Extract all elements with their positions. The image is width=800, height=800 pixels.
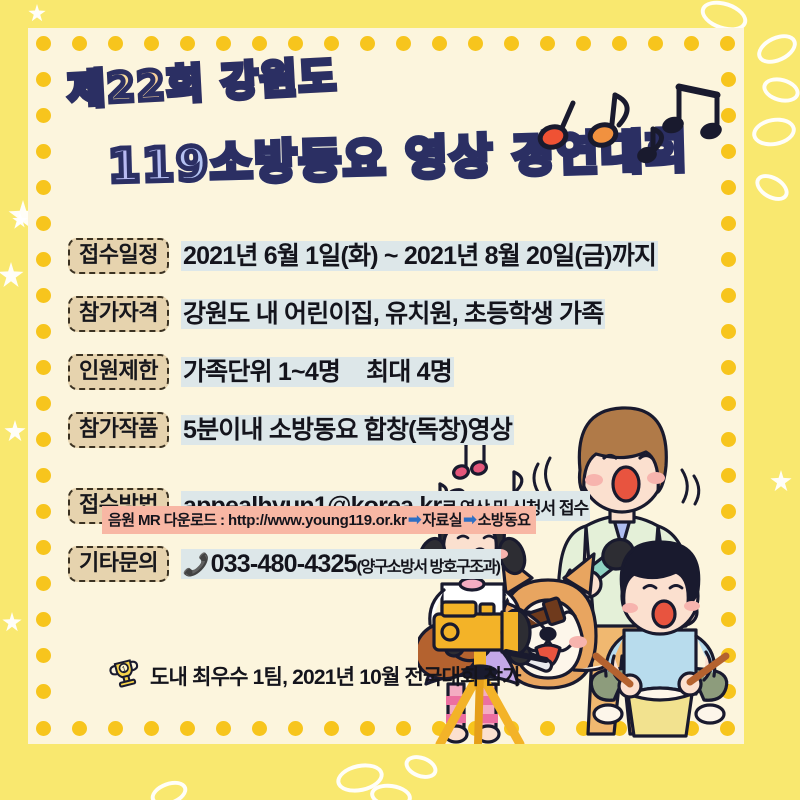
border-dot — [36, 684, 51, 699]
border-dot — [108, 36, 123, 51]
border-dot — [108, 721, 123, 736]
border-dot — [36, 432, 51, 447]
swirl-doodle — [334, 759, 387, 796]
info-row-schedule: 접수일정 2021년 6월 1일(화) ~ 2021년 8월 20일(금)까지 — [68, 238, 708, 274]
border-dot — [36, 252, 51, 267]
info-value-contact: 📞033-480-4325(양구소방서 방호구조과) — [181, 549, 502, 580]
border-dot — [36, 216, 51, 231]
border-dot — [36, 396, 51, 411]
title-line-1: 제22회 강원도 — [66, 44, 338, 116]
footer-text: 도내 최우수 1팀, 2021년 10월 전국대회 참가 — [150, 661, 521, 691]
border-dot — [324, 721, 339, 736]
border-dot — [576, 36, 591, 51]
mr-download-line: 음원 MR 다운로드 : http://www.young119.or.kr➡자… — [102, 506, 536, 534]
border-dot — [36, 288, 51, 303]
info-tag-schedule: 접수일정 — [68, 238, 169, 274]
poster-inner-panel: 제22회 강원도 119소방동요 영상 경연대회 — [28, 28, 744, 744]
border-dot — [720, 36, 735, 51]
contact-office: (양구소방서 방호구조과) — [357, 559, 500, 576]
swirl-doodle — [369, 781, 414, 800]
swirl-doodle — [147, 776, 191, 800]
border-dot — [721, 360, 736, 375]
sparkle-doodle — [12, 212, 28, 228]
border-dot — [721, 288, 736, 303]
border-dot — [252, 721, 267, 736]
info-value-participant-limit: 가족단위 1~4명최대 4명 — [181, 357, 454, 388]
border-dot — [36, 576, 51, 591]
mr-prefix: 음원 MR 다운로드 : — [108, 512, 228, 529]
info-row-contact: 기타문의 📞033-480-4325(양구소방서 방호구조과) — [68, 546, 708, 582]
border-dot — [36, 540, 51, 555]
border-dot — [144, 721, 159, 736]
border-dot — [721, 252, 736, 267]
footer-note: 1 도내 최우수 1팀, 2021년 10월 전국대회 참가 — [108, 656, 521, 695]
swirl-doodle — [760, 73, 800, 106]
phone-icon: 📞 — [183, 552, 210, 577]
border-dot — [468, 36, 483, 51]
mr-url[interactable]: http://www.young119.or.kr — [228, 512, 407, 529]
border-dot — [180, 721, 195, 736]
border-dot — [540, 36, 555, 51]
border-dot — [180, 36, 195, 51]
border-dot — [36, 612, 51, 627]
mr-step-2: 소방동요 — [478, 512, 531, 529]
info-row-participant-limit: 인원제한 가족단위 1~4명최대 4명 — [68, 354, 708, 390]
arrow-icon: ➡ — [408, 510, 422, 529]
border-dot — [72, 36, 87, 51]
border-dot — [721, 216, 736, 231]
info-tag-participant-limit: 인원제한 — [68, 354, 169, 390]
border-dot — [36, 324, 51, 339]
info-tag-entry-work: 참가작품 — [68, 412, 169, 448]
info-tag-contact: 기타문의 — [68, 546, 169, 582]
sparkle-doodle — [2, 612, 22, 632]
poster-canvas: 제22회 강원도 119소방동요 영상 경연대회 — [0, 0, 800, 800]
border-dot — [721, 324, 736, 339]
swirl-doodle — [752, 28, 800, 69]
border-dot — [396, 721, 411, 736]
info-row-entry-work: 참가작품 5분이내 소방동요 합창(독창)영상 — [68, 412, 708, 448]
border-dot — [360, 721, 375, 736]
border-dot — [612, 36, 627, 51]
border-dot — [36, 721, 51, 736]
info-value-eligibility: 강원도 내 어린이집, 유치원, 초등학생 가족 — [181, 299, 605, 330]
border-dot — [216, 721, 231, 736]
info-value-schedule: 2021년 6월 1일(화) ~ 2021년 8월 20일(금)까지 — [181, 241, 658, 272]
border-dot — [360, 36, 375, 51]
contact-number[interactable]: 033-480-4325 — [211, 550, 357, 578]
music-note-icon — [533, 73, 744, 183]
border-dot — [648, 36, 663, 51]
sparkle-doodle — [4, 420, 26, 442]
border-dot — [432, 36, 447, 51]
border-dot — [144, 36, 159, 51]
border-dot — [36, 468, 51, 483]
mr-step-1: 자료실 — [422, 512, 462, 529]
border-dot — [36, 36, 51, 51]
swirl-doodle — [401, 751, 440, 783]
info-row-eligibility: 참가자격 강원도 내 어린이집, 유치원, 초등학생 가족 — [68, 296, 708, 332]
limit-max: 최대 4명 — [366, 358, 452, 386]
border-dot — [684, 36, 699, 51]
sparkle-doodle — [28, 4, 46, 22]
sparkle-doodle — [0, 262, 24, 288]
border-dot — [36, 360, 51, 375]
info-value-entry-work: 5분이내 소방동요 합창(독창)영상 — [181, 415, 514, 446]
swirl-doodle — [751, 169, 794, 207]
border-dot — [36, 504, 51, 519]
trophy-icon: 1 — [108, 656, 142, 695]
border-dot — [72, 721, 87, 736]
arrow-icon: ➡ — [463, 510, 477, 529]
swirl-doodle — [750, 114, 798, 149]
sparkle-doodle — [770, 470, 792, 492]
border-dot — [396, 36, 411, 51]
border-dot — [288, 721, 303, 736]
info-list: 접수일정 2021년 6월 1일(화) ~ 2021년 8월 20일(금)까지 … — [68, 238, 708, 604]
border-dot — [504, 36, 519, 51]
border-dot — [36, 648, 51, 663]
info-tag-eligibility: 참가자격 — [68, 296, 169, 332]
limit-range: 가족단위 1~4명 — [183, 358, 340, 386]
